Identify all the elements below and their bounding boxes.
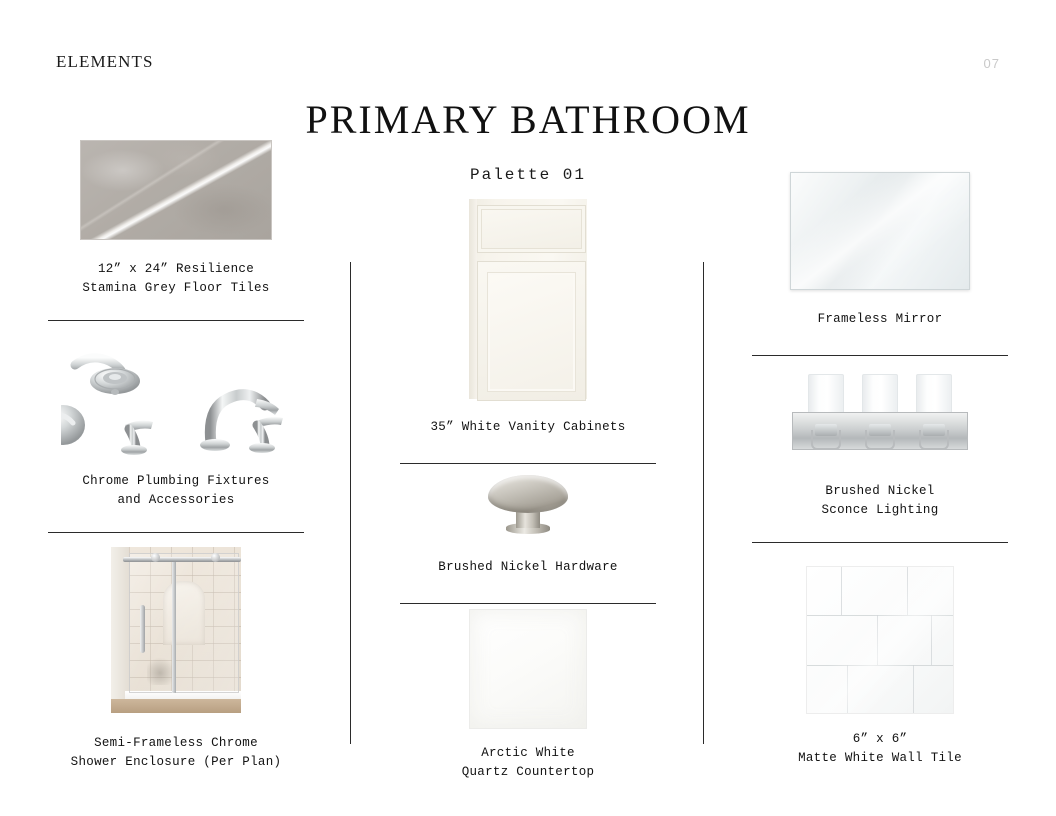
item-divider (400, 463, 656, 464)
column-divider-right (703, 262, 704, 744)
item-plumbing-fixtures: Chrome Plumbing Fixtures and Accessories (48, 342, 304, 533)
frameless-mirror (752, 170, 1008, 292)
semi-frameless-shower-enclosure (48, 546, 304, 714)
chrome-fixtures-illustration (61, 347, 291, 455)
white-vanity-cabinet-door (400, 198, 656, 400)
caption-line-2: Stamina Grey Floor Tiles (48, 279, 304, 298)
section-label: ELEMENTS (56, 52, 154, 72)
caption-line-1: Arctic White (400, 744, 656, 763)
page-number: 07 (984, 56, 1000, 71)
brushed-nickel-3-light-sconce (752, 368, 1008, 468)
arctic-white-quartz-swatch (400, 608, 656, 730)
item-shower-enclosure: Semi-Frameless Chrome Shower Enclosure (… (48, 546, 304, 772)
caption-line-1: 6” x 6” (752, 730, 1008, 749)
caption-line-2: Quartz Countertop (400, 763, 656, 782)
caption-line-1: Brushed Nickel (752, 482, 1008, 501)
caption-line-2: Sconce Lighting (752, 501, 1008, 520)
caption-line-1: Chrome Plumbing Fixtures (48, 472, 304, 491)
item-frameless-mirror: Frameless Mirror (752, 170, 1008, 356)
caption-line-2: and Accessories (48, 491, 304, 510)
caption-line-1: 12” x 24” Resilience (48, 260, 304, 279)
caption-line-1: Brushed Nickel Hardware (400, 558, 656, 577)
caption-line-2: Shower Enclosure (Per Plan) (48, 753, 304, 772)
item-divider (400, 603, 656, 604)
caption-line-2: Matte White Wall Tile (752, 749, 1008, 768)
caption-line-1: 35” White Vanity Cabinets (400, 418, 656, 437)
caption-line-1: Frameless Mirror (752, 310, 1008, 329)
item-floor-tile: 12” x 24” Resilience Stamina Grey Floor … (48, 134, 304, 321)
chrome-plumbing-fixtures (48, 342, 304, 460)
item-sconce-lighting: Brushed Nickel Sconce Lighting (752, 368, 1008, 543)
item-divider (48, 532, 304, 533)
grey-marble-floor-tile-swatch (48, 134, 304, 246)
matte-white-wall-tile (752, 564, 1008, 716)
item-divider (752, 542, 1008, 543)
brushed-nickel-knob (400, 472, 656, 538)
caption-line-1: Semi-Frameless Chrome (48, 734, 304, 753)
item-divider (48, 320, 304, 321)
item-cabinet-hardware: Brushed Nickel Hardware (400, 472, 656, 604)
item-divider (752, 355, 1008, 356)
item-wall-tile: 6” x 6” Matte White Wall Tile (752, 564, 1008, 768)
item-quartz-countertop: Arctic White Quartz Countertop (400, 608, 656, 782)
column-divider-left (350, 262, 351, 744)
design-board-page: ELEMENTS 07 PRIMARY BATHROOM Palette 01 … (0, 0, 1056, 816)
item-vanity-cabinet: 35” White Vanity Cabinets (400, 198, 656, 464)
